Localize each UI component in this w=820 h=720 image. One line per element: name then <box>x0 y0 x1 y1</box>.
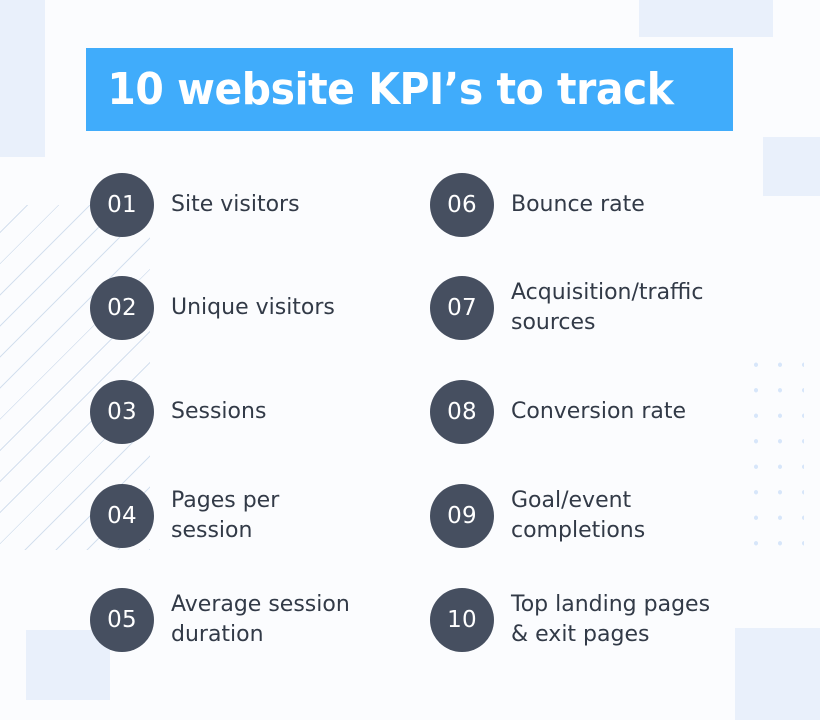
infographic-canvas: 10 website KPI’s to track 01 Site visito… <box>0 0 820 720</box>
kpi-label: Site visitors <box>171 190 300 220</box>
kpi-number-badge: 06 <box>430 173 494 237</box>
list-item: 09 Goal/event completions <box>430 484 760 548</box>
decoration-rect-top-right <box>639 0 773 37</box>
kpi-number-badge: 08 <box>430 380 494 444</box>
kpi-number-badge: 02 <box>90 276 154 340</box>
kpi-label: Bounce rate <box>511 190 645 220</box>
page-title: 10 website KPI’s to track <box>86 64 674 115</box>
list-item: 03 Sessions <box>90 380 420 444</box>
kpi-number-badge: 09 <box>430 484 494 548</box>
list-item: 04 Pages per session <box>90 484 420 548</box>
list-item: 06 Bounce rate <box>430 173 760 237</box>
title-banner: 10 website KPI’s to track <box>86 48 733 131</box>
kpi-number-badge: 04 <box>90 484 154 548</box>
decoration-rect-top-left <box>0 0 45 157</box>
list-item: 10 Top landing pages & exit pages <box>430 588 760 652</box>
kpi-label: Conversion rate <box>511 397 686 427</box>
kpi-number-badge: 07 <box>430 276 494 340</box>
kpi-label: Acquisition/traffic sources <box>511 278 703 339</box>
list-item: 02 Unique visitors <box>90 276 420 340</box>
kpi-number-badge: 03 <box>90 380 154 444</box>
kpi-number-badge: 01 <box>90 173 154 237</box>
kpi-label: Top landing pages & exit pages <box>511 590 710 651</box>
kpi-label: Pages per session <box>171 486 279 547</box>
list-item: 07 Acquisition/traffic sources <box>430 276 760 340</box>
list-item: 01 Site visitors <box>90 173 420 237</box>
kpi-label: Sessions <box>171 397 266 427</box>
kpi-number-badge: 10 <box>430 588 494 652</box>
decoration-rect-right-middle <box>763 137 820 196</box>
list-item: 05 Average session duration <box>90 588 420 652</box>
kpi-label: Goal/event completions <box>511 486 645 547</box>
list-item: 08 Conversion rate <box>430 380 760 444</box>
kpi-number-badge: 05 <box>90 588 154 652</box>
kpi-label: Unique visitors <box>171 293 335 323</box>
kpi-label: Average session duration <box>171 590 350 651</box>
